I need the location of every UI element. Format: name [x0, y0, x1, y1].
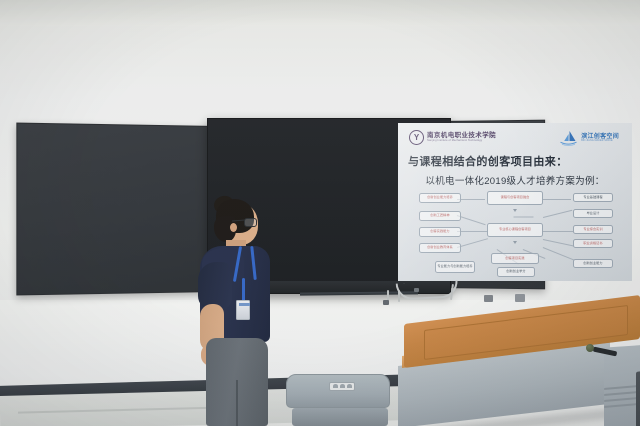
flow-node: 创新创业能力培养 [419, 193, 461, 203]
glasses-icon [244, 218, 257, 227]
badge-strip [239, 303, 250, 306]
id-badge [236, 300, 250, 320]
flow-node: 专业能力与创新能力培养 [435, 261, 475, 273]
flow-node: 专业核心课程创客项目 [487, 223, 543, 237]
institution-logo: Y 南京机电职业技术学院 Nanjing Institute of Mechat… [409, 130, 496, 145]
presenter [192, 196, 290, 426]
slide-header: Y 南京机电职业技术学院 Nanjing Institute of Mechat… [405, 128, 625, 152]
wall-outlet-plate-2 [515, 294, 525, 302]
leg-seam [236, 380, 238, 426]
junction-box [383, 300, 389, 305]
flow-node: 创新创业教育体系 [419, 243, 461, 253]
chair-seat [292, 408, 388, 426]
flow-node: 创新工匠精神 [419, 211, 461, 221]
ceiling-shadow [0, 0, 640, 26]
flow-node: 专业基础课程 [573, 193, 613, 202]
flow-node: 课程与创客项目融合 [487, 191, 543, 205]
flow-node: 毕业设计 [573, 209, 613, 218]
flow-node: 创客项目实践 [491, 253, 539, 264]
chair-back [286, 374, 390, 408]
wall-outlet-plate [484, 295, 493, 302]
flow-node: 创新创业学分 [497, 267, 535, 277]
cable-clip [414, 288, 419, 292]
slide-flowchart: 创新创业能力培养 创新工匠精神 创客实践能力 创新创业教育体系 课程与创客项目融… [405, 191, 625, 279]
crest-icon: Y [409, 130, 424, 145]
slide-subtitle: 以机电一体化2019级人才培养方案为例： [405, 173, 625, 187]
slide-title: 与课程相结合的创客项目由来： [405, 153, 625, 169]
podium-vents [604, 384, 640, 410]
bezel-sensor-dots [276, 287, 382, 289]
flow-node: 创新创业能力 [573, 259, 613, 268]
teacher-podium [398, 322, 640, 426]
makerspace-logo: 滨江创客空间 BIN JIANG MAKER SPACE [559, 130, 619, 146]
flow-node: 创客实践能力 [419, 227, 461, 237]
lanyard-center [242, 278, 245, 302]
institution-name-en: Nanjing Institute of Mechatronic Technol… [427, 140, 496, 143]
chalkboard-panel-left [16, 123, 217, 296]
podium-knob[interactable] [586, 344, 594, 352]
display-screen[interactable]: Y 南京机电职业技术学院 Nanjing Institute of Mechat… [398, 123, 632, 281]
student-chair [286, 374, 394, 426]
flow-node: 职业资格证书 [573, 239, 613, 248]
sleeve [198, 262, 232, 310]
makerspace-name-en: BIN JIANG MAKER SPACE [581, 140, 619, 143]
ear [230, 223, 237, 232]
chair-handle-slot [329, 382, 355, 391]
flow-node: 专业综合实训 [573, 225, 613, 234]
classroom-photo: Y 南京机电职业技术学院 Nanjing Institute of Mechat… [0, 0, 640, 426]
sailboat-icon [559, 130, 578, 146]
presentation-slide: Y 南京机电职业技术学院 Nanjing Institute of Mechat… [398, 123, 632, 281]
